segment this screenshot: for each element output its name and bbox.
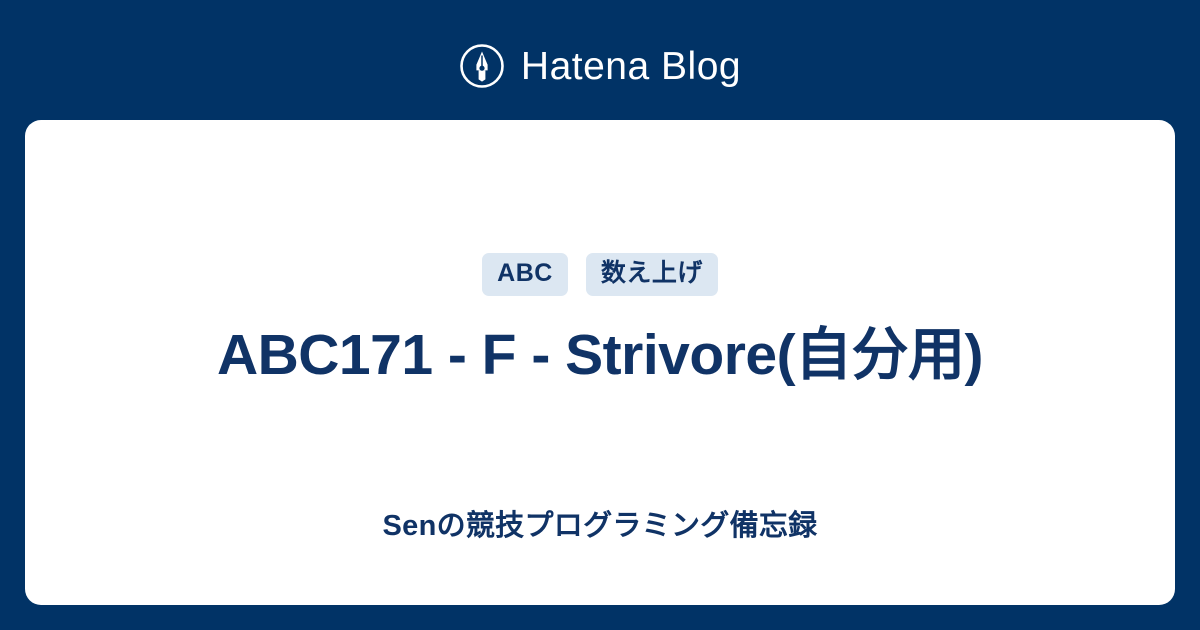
blog-name: Senの競技プログラミング備忘録 xyxy=(65,508,1135,546)
ogp-card-canvas: Hatena Blog ABC 数え上げ ABC171 - F - Strivo… xyxy=(0,0,1200,630)
entry-tag[interactable]: 数え上げ xyxy=(586,253,718,296)
entry-tag[interactable]: ABC xyxy=(482,253,568,296)
entry-tag-list: ABC 数え上げ xyxy=(25,253,1175,296)
hatena-blog-brand: Hatena Blog xyxy=(0,36,1200,96)
hatena-pen-nib-icon xyxy=(459,43,505,89)
brand-name-label: Hatena Blog xyxy=(521,47,741,86)
entry-title: ABC171 - F - Strivore(自分用) xyxy=(65,320,1135,391)
entry-card: ABC 数え上げ ABC171 - F - Strivore(自分用) Senの… xyxy=(25,120,1175,605)
